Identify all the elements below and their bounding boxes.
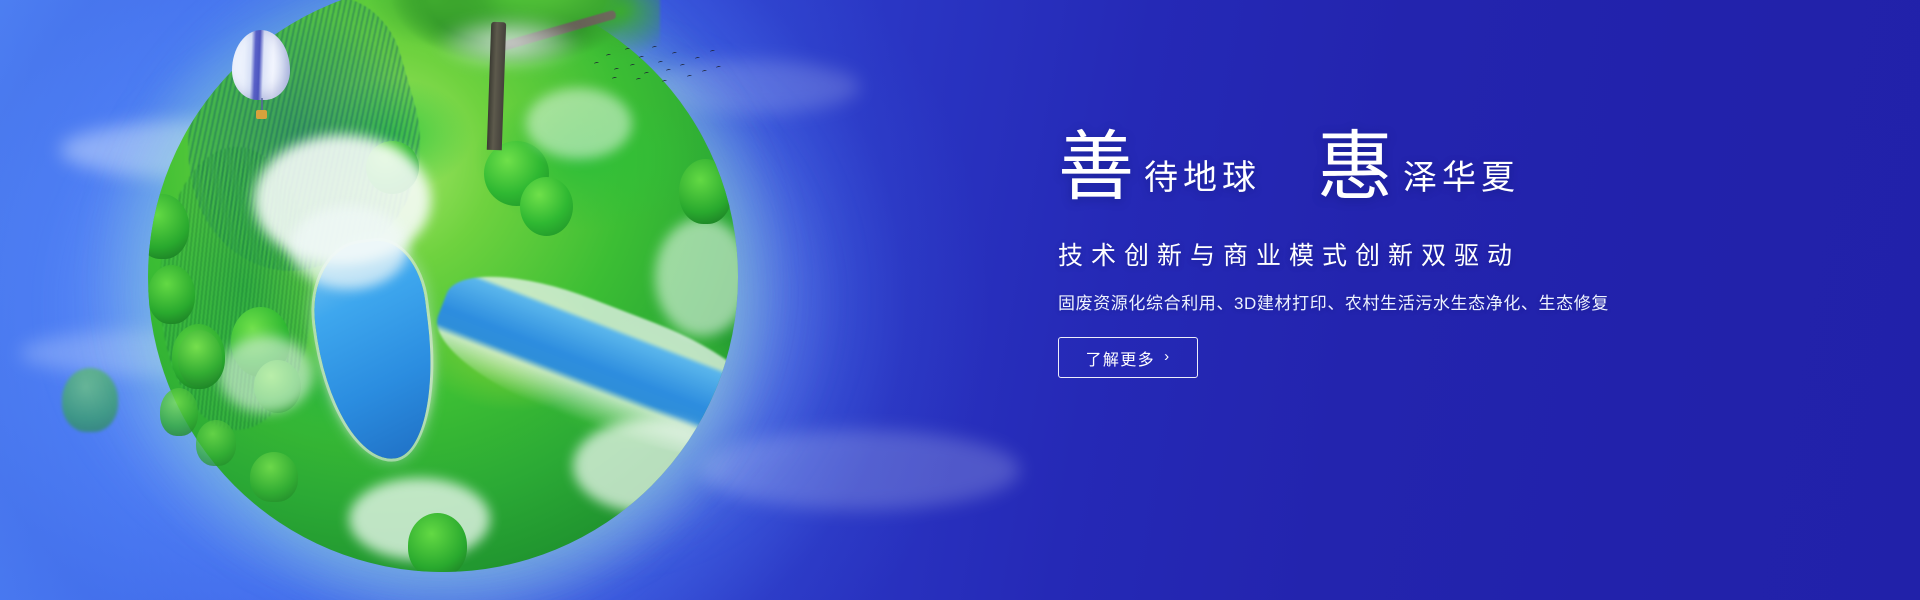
bird-icon: [716, 66, 722, 70]
hot-air-balloon-icon: [232, 30, 292, 128]
bird-icon: [658, 61, 664, 65]
hero-description: 固废资源化综合利用、3D建材打印、农村生活污水生态净化、生态修复: [1058, 289, 1758, 314]
chevron-right-icon: ›: [1164, 348, 1170, 365]
edge-tree: [250, 452, 298, 502]
headline-phrase-2: 惠 泽华夏: [1317, 126, 1520, 202]
edge-tree: [160, 388, 198, 436]
cloud-patch: [290, 206, 408, 289]
hero-copy: 善 待地球 惠 泽华夏 技术创新与商业模式创新双驱动 固废资源化综合利用、3D建…: [1058, 126, 1758, 378]
tree-mist: [418, 8, 608, 78]
edge-tree: [196, 420, 236, 466]
balloon-basket: [256, 110, 267, 119]
bird-icon: [606, 54, 612, 58]
bird-icon: [702, 70, 708, 74]
bird-icon: [630, 64, 636, 68]
tree-trunk: [487, 22, 506, 150]
rim-tree: [148, 265, 195, 324]
headline-phrase-1: 善 待地球: [1058, 126, 1261, 202]
page-title: 善 待地球 惠 泽华夏: [1058, 126, 1758, 210]
bird-icon: [695, 57, 701, 61]
cloud-patch: [219, 336, 313, 413]
learn-more-label: 了解更多: [1085, 346, 1155, 370]
bird-icon: [594, 62, 600, 66]
rim-tree: [679, 159, 732, 224]
bird-icon: [710, 50, 716, 54]
headline-lead-char-2: 惠: [1317, 130, 1393, 206]
bird-icon: [672, 52, 678, 56]
edge-tree: [62, 368, 118, 432]
bird-icon: [687, 75, 693, 79]
bird-icon: [680, 64, 686, 68]
cloud-patch: [655, 218, 738, 336]
bird-icon: [612, 77, 618, 81]
balloon-envelope: [232, 30, 290, 100]
birds-icon: [592, 42, 722, 88]
bird-icon: [652, 46, 658, 50]
headline-rest-2: 泽华夏: [1403, 162, 1520, 196]
learn-more-button[interactable]: 了解更多 ›: [1058, 337, 1198, 378]
headline-lead-char-1: 善: [1058, 130, 1134, 206]
rim-tree: [408, 513, 467, 572]
bird-icon: [636, 78, 642, 82]
bird-icon: [644, 72, 650, 76]
tree-cluster: [520, 177, 573, 236]
bird-icon: [639, 56, 645, 60]
bird-icon: [614, 68, 620, 72]
hero-subtitle: 技术创新与商业模式创新双驱动: [1058, 236, 1758, 272]
rim-tree: [667, 478, 726, 543]
bird-icon: [625, 48, 631, 52]
headline-rest-1: 待地球: [1144, 162, 1261, 196]
hero-banner: 善 待地球 惠 泽华夏 技术创新与商业模式创新双驱动 固废资源化综合利用、3D建…: [0, 0, 1920, 600]
edge-tree: [178, 330, 222, 386]
bird-icon: [666, 69, 672, 73]
bird-icon: [662, 80, 668, 84]
